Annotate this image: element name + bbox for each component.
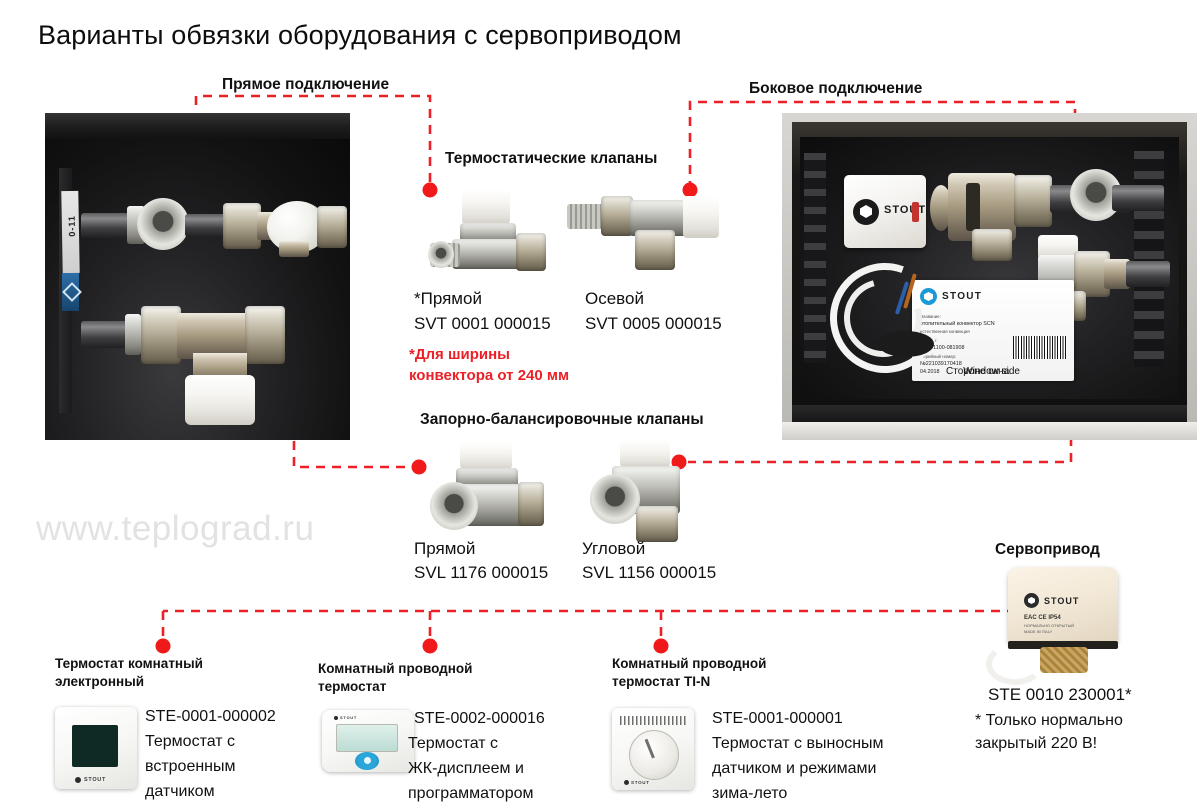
- dot-thermostat-2: [423, 639, 438, 654]
- dot-balancing-straight: [412, 460, 427, 475]
- thermostat-0-code: STE-0001-000002: [145, 705, 276, 728]
- dot-thermostat-3: [654, 639, 669, 654]
- thermostat-2-desc-line3: зима-лето: [712, 782, 787, 805]
- heading-balancing-valves: Запорно-балансировочные клапаны: [420, 411, 704, 429]
- thermostat-0-desc-line3: датчиком: [145, 780, 215, 803]
- thermostatic-item-0-name: *Прямой: [414, 288, 482, 311]
- thermostat-1-title: Комнатный проводной термостат: [318, 660, 568, 696]
- dial-room-thermostat-icon: STOUT: [612, 708, 694, 790]
- heading-servo: Сервопривод: [995, 541, 1100, 559]
- thermostatic-item-1-name: Осевой: [585, 288, 644, 311]
- wired-lcd-thermostat-icon: STOUT: [322, 710, 414, 772]
- thermostat-1-desc-line1: Термостат с: [408, 732, 498, 755]
- heading-thermostatic-valves: Термостатические клапаны: [445, 150, 657, 168]
- label-direct-connection: Прямое подключение: [222, 76, 389, 94]
- photo-label-brand: STOUT: [942, 291, 982, 302]
- thermostat-2-desc-line1: Термостат с выносным: [712, 732, 884, 755]
- servo-note-line2: закрытый 220 В!: [975, 732, 1097, 755]
- photo-label-right-side: Window side: [963, 366, 1020, 377]
- thermostat-2-title-line1: Комнатный проводной: [612, 655, 862, 673]
- page-title: Варианты обвязки оборудования с сервопри…: [38, 20, 682, 51]
- servo-drive-icon: STOUT EAC CE IP54 НОРМАЛЬНО ОТКРЫТЫЙ MAD…: [1004, 567, 1128, 675]
- servo-sub2: MADE IN ITALY: [1024, 629, 1052, 634]
- thermostatic-item-1-code: SVT 0005 000015: [585, 313, 722, 336]
- photo-tag-text: 0-11: [66, 203, 77, 249]
- balancing-item-1-name: Угловой: [582, 538, 645, 561]
- thermostat-1-desc-line3: программатором: [408, 782, 533, 805]
- balancing-item-0-code: SVL 1176 000015: [414, 562, 548, 585]
- servo-code: STE 0010 230001*: [988, 684, 1132, 707]
- photo-actuator: STOUT: [844, 175, 926, 248]
- thermostat-2-title-line2: термостат TI-N: [612, 673, 862, 691]
- servo-sub1: НОРМАЛЬНО ОТКРЫТЫЙ: [1024, 623, 1074, 628]
- servo-brand: STOUT: [1044, 596, 1079, 606]
- side-connection-photo: STOUT STOUT Название: отопительный конве…: [782, 113, 1197, 440]
- thermostat-0-title-line1: Термостат комнатный: [55, 655, 295, 673]
- label-side-connection: Боковое подключение: [749, 80, 922, 98]
- thermostat-1-code: STE-0002-000016: [414, 707, 545, 730]
- axial-thermostatic-valve-icon: [565, 178, 725, 288]
- angle-balancing-valve-icon: [590, 440, 740, 540]
- photo-actuator-brand: STOUT: [884, 204, 926, 216]
- thermostat-1-desc-line2: ЖК-дисплеем и: [408, 757, 524, 780]
- thermostat-1-title-line2: термостат: [318, 678, 568, 696]
- photo-label-l9: 04.2018: [920, 369, 940, 375]
- thermostatic-footnote-line1: *Для ширины: [409, 344, 510, 365]
- thermostat-2-desc-line2: датчиком и режимами: [712, 757, 876, 780]
- thermostat-2-title: Комнатный проводной термостат TI-N: [612, 655, 862, 691]
- direct-connection-photo: 0-11: [45, 113, 350, 440]
- thermostat-0-title: Термостат комнатный электронный: [55, 655, 295, 691]
- servo-note-line1: * Только нормально: [975, 709, 1123, 732]
- thermostat-0-title-line2: электронный: [55, 673, 295, 691]
- electronic-room-thermostat-icon: STOUT: [55, 707, 137, 789]
- thermostatic-footnote-line2: конвектора от 240 мм: [409, 365, 569, 386]
- servo-marks: EAC CE IP54: [1024, 615, 1061, 621]
- thermostat-0-desc-line2: встроенным: [145, 755, 236, 778]
- thermostat-1-title-line1: Комнатный проводной: [318, 660, 568, 678]
- straight-thermostatic-valve-icon: [430, 185, 580, 285]
- balancing-item-1-code: SVL 1156 000015: [582, 562, 716, 585]
- straight-balancing-valve-icon: [432, 442, 582, 538]
- thermostat-0-desc-line1: Термостат с: [145, 730, 235, 753]
- thermostat-2-code: STE-0001-000001: [712, 707, 843, 730]
- thermostatic-item-0-code: SVT 0001 000015: [414, 313, 551, 336]
- watermark: www.teplograd.ru: [36, 509, 314, 549]
- dot-thermostat-1: [156, 639, 171, 654]
- balancing-item-0-name: Прямой: [414, 538, 475, 561]
